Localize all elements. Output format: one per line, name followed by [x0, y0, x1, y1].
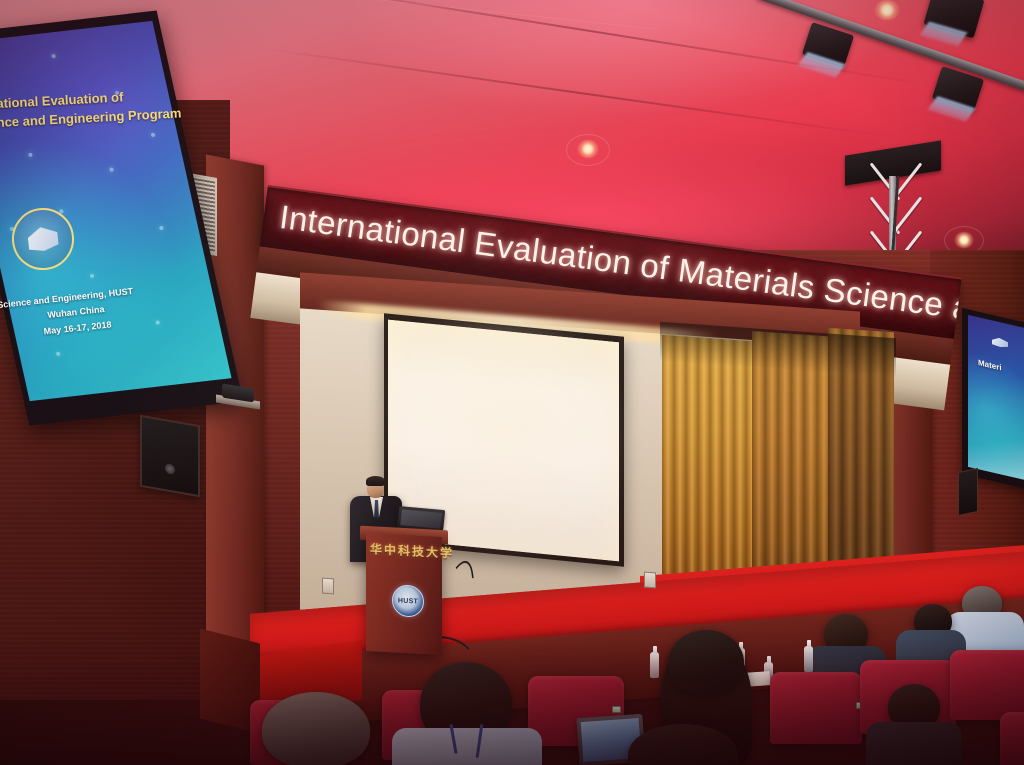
lectern-university-name: 华中科技大学: [370, 540, 440, 561]
downlight-ring: [566, 134, 610, 166]
audience-head: [668, 630, 744, 694]
auditorium-photo: International Evaluation of Materials Sc…: [0, 0, 1024, 765]
seat-number-tag: [612, 706, 621, 713]
seat: [950, 650, 1024, 720]
audience-head: [262, 692, 370, 765]
hust-emblem-icon: HUST: [392, 584, 424, 618]
presenter-hair: [366, 476, 385, 486]
emblem-label: HUST: [398, 597, 418, 605]
emblem-book-shape: [27, 225, 59, 252]
wall-speaker-right: [958, 468, 978, 516]
audience-torso: [392, 728, 542, 765]
water-bottle: [650, 652, 659, 678]
recessed-downlight: [874, 0, 900, 20]
wall-socket: [322, 578, 334, 595]
water-bottle: [804, 646, 813, 672]
wall-speaker-left: [140, 415, 200, 498]
seat: [1000, 712, 1024, 765]
audience-torso: [866, 722, 962, 765]
wall-socket: [644, 572, 656, 589]
seat: [770, 672, 862, 744]
